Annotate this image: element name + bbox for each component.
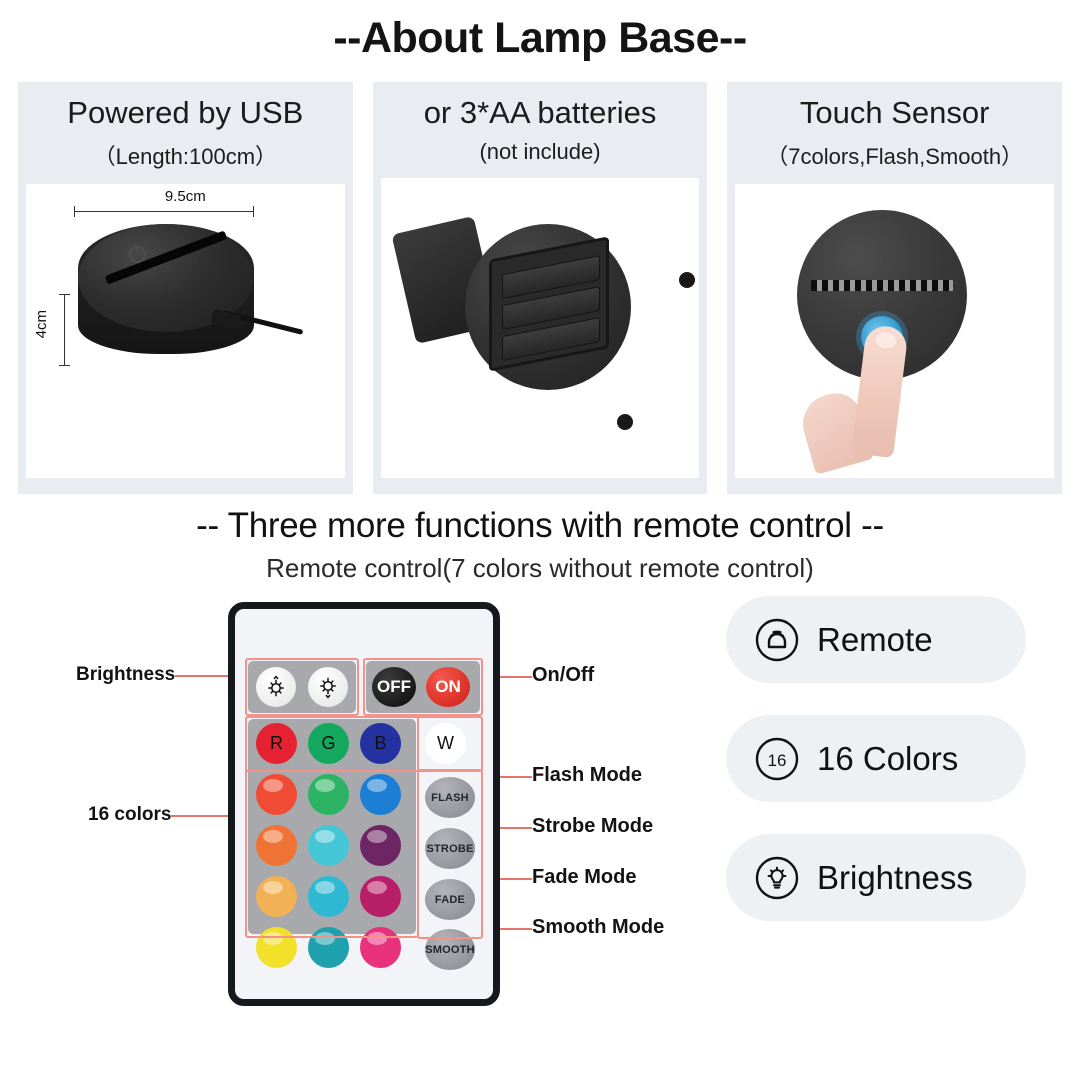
pill-label: Remote [817, 621, 933, 659]
callout-leader-line [498, 928, 532, 930]
off-button[interactable]: OFF [372, 667, 416, 707]
callout-label: Flash Mode [532, 764, 642, 786]
callout-label: Brightness [76, 664, 175, 685]
lamp-base-usb-photo: 9.5cm 4cm [26, 184, 345, 478]
remote-signal-icon [754, 617, 800, 663]
section-headline: -- Three more functions with remote cont… [0, 506, 1080, 546]
rubber-foot [679, 272, 695, 288]
callout-fade-mode: Fade Mode [532, 866, 636, 889]
callout-label: 16 colors [88, 804, 171, 825]
battery-well [489, 236, 609, 371]
callout-label: Strobe Mode [532, 815, 653, 837]
callout-leader-line [498, 827, 532, 829]
card-subtitle: (not include) [479, 139, 600, 165]
color-button-g[interactable]: G [308, 723, 349, 764]
swatch-gloss [263, 779, 283, 792]
card-title: or 3*AA batteries [424, 96, 657, 131]
brightness-down-icon [316, 675, 340, 699]
callout-16-colors: 16 colors [88, 804, 171, 826]
color-button-r5c2[interactable] [308, 927, 349, 968]
color-button-r[interactable]: R [256, 723, 297, 764]
swatch-gloss [367, 779, 387, 792]
swatch-gloss [367, 881, 387, 894]
card-aa-batteries: or 3*AA batteries (not include) [373, 82, 708, 494]
card-subtitle: （Length:100cm） [94, 139, 277, 171]
svg-text:16: 16 [768, 751, 787, 770]
swatch-gloss [315, 779, 335, 792]
callout-label: On/Off [532, 664, 594, 686]
color-button-w[interactable]: W [425, 723, 466, 764]
callout-leader-line [171, 815, 231, 817]
swatch-gloss [263, 881, 283, 894]
pill-remote: Remote [726, 596, 1026, 683]
card-touch-sensor: Touch Sensor （7colors,Flash,Smooth） [727, 82, 1062, 494]
card-powered-by-usb: Powered by USB （Length:100cm） 9.5cm 4cm [18, 82, 353, 494]
width-dimension-bar [74, 211, 254, 212]
color-button-r3c2[interactable] [308, 825, 349, 866]
swatch-gloss [315, 932, 335, 945]
feature-pill-list: Remote 16 16 Colors [726, 596, 1026, 953]
callout-leader-line [498, 676, 532, 678]
height-dimension-bar [64, 294, 65, 366]
card-title: Touch Sensor [800, 96, 990, 131]
swatch-gloss [315, 830, 335, 843]
remote-diagram-area: Brightness 16 colors On/Off Flash Mode S… [0, 584, 1080, 1039]
color-button-r5c3[interactable] [360, 927, 401, 968]
callout-strobe-mode: Strobe Mode [532, 815, 653, 838]
touch-sensor-photo [735, 184, 1054, 478]
card-title: Powered by USB [67, 96, 303, 131]
on-button[interactable]: ON [426, 667, 470, 707]
color-button-b[interactable]: B [360, 723, 401, 764]
color-button-r4c2[interactable] [308, 876, 349, 917]
page-title: --About Lamp Base-- [0, 0, 1080, 63]
brightness-up-icon [264, 675, 288, 699]
callout-brightness: Brightness [76, 664, 175, 686]
swatch-gloss [263, 932, 283, 945]
rubber-foot [617, 414, 633, 430]
callout-label: Smooth Mode [532, 916, 664, 938]
color-button-r3c1[interactable] [256, 825, 297, 866]
callout-leader-line [498, 776, 532, 778]
color-button-r3c3[interactable] [360, 825, 401, 866]
section-subheadline: Remote control(7 colors without remote c… [0, 553, 1080, 584]
pill-label: Brightness [817, 859, 973, 897]
color-button-r4c3[interactable] [360, 876, 401, 917]
callout-label: Fade Mode [532, 866, 636, 888]
pill-16-colors: 16 16 Colors [726, 715, 1026, 802]
remote-control[interactable]: OFF ON RGBW FLASH STROBE FADE SMOOTH [228, 602, 500, 1006]
color-button-r2c2[interactable] [308, 774, 349, 815]
pill-brightness: Brightness [726, 834, 1026, 921]
color-button-r5c1[interactable] [256, 927, 297, 968]
callout-on-off: On/Off [532, 664, 594, 687]
led-strip [811, 280, 953, 291]
swatch-gloss [315, 881, 335, 894]
flash-button[interactable]: FLASH [425, 777, 475, 818]
lightbulb-icon [754, 855, 800, 901]
sixteen-circle-icon: 16 [754, 736, 800, 782]
swatch-gloss [263, 830, 283, 843]
brightness-up-button[interactable] [256, 667, 296, 707]
swatch-gloss [367, 932, 387, 945]
battery-compartment-photo [381, 178, 700, 478]
color-button-r4c1[interactable] [256, 876, 297, 917]
fade-button[interactable]: FADE [425, 879, 475, 920]
color-button-r2c3[interactable] [360, 774, 401, 815]
width-dimension-label: 9.5cm [26, 188, 345, 205]
feature-cards: Powered by USB （Length:100cm） 9.5cm 4cm … [0, 82, 1080, 494]
color-button-r2c1[interactable] [256, 774, 297, 815]
callout-flash-mode: Flash Mode [532, 764, 642, 787]
card-subtitle: （7colors,Flash,Smooth） [766, 139, 1023, 171]
swatch-gloss [367, 830, 387, 843]
strobe-button[interactable]: STROBE [425, 828, 475, 869]
smooth-button[interactable]: SMOOTH [425, 929, 475, 970]
height-dimension-label: 4cm [33, 310, 50, 338]
callout-smooth-mode: Smooth Mode [532, 916, 664, 939]
callout-leader-line [498, 878, 532, 880]
brightness-down-button[interactable] [308, 667, 348, 707]
pill-label: 16 Colors [817, 740, 958, 778]
